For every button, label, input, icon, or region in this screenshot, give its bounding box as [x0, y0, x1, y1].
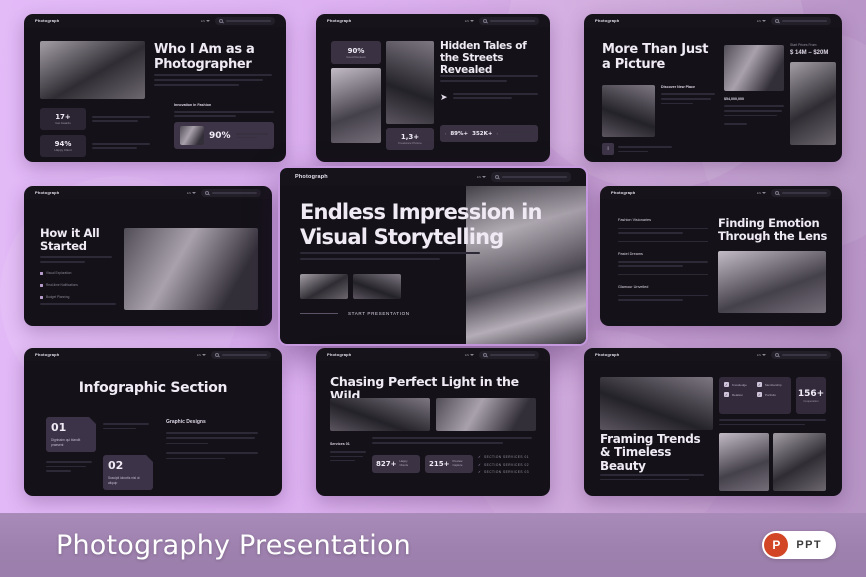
- list-item: Visual Exploration: [40, 271, 116, 277]
- next-arrow-icon[interactable]: ›: [496, 131, 497, 136]
- cooperation-counter: 156+ Cooperation: [796, 377, 826, 414]
- send-row: ➤: [440, 93, 538, 102]
- checkbox-grid: ✓Knowledge ✓Membership ✓Relation ✓Portfo…: [724, 382, 786, 397]
- slide-finding-emotion[interactable]: Photograph EN Fashion Visionaries Pastel…: [600, 186, 842, 326]
- slide-paragraph: [372, 437, 532, 444]
- language-selector[interactable]: EN: [465, 19, 474, 23]
- navbar-right: EN: [757, 351, 831, 359]
- search-placeholder: [782, 354, 827, 356]
- send-icon: ➤: [440, 93, 448, 102]
- bullet-icon: [40, 284, 43, 287]
- search-placeholder: [782, 20, 827, 22]
- checkbox-panel: ✓Knowledge ✓Membership ✓Relation ✓Portfo…: [719, 377, 791, 414]
- slide-hidden-tales[interactable]: Photograph EN 90% Good Reviews 1,3+ Free…: [316, 14, 550, 162]
- portrait-photo: [40, 41, 145, 99]
- badge-label: Good Reviews: [346, 55, 366, 59]
- slide-navbar: Photograph EN: [24, 186, 272, 199]
- language-selector[interactable]: EN: [757, 353, 766, 357]
- chevron-down-icon: [762, 20, 766, 22]
- dancer-photo: [331, 68, 381, 143]
- column-title: Discover New Place: [661, 85, 715, 89]
- slide-body: 90% Good Reviews 1,3+ Freelance Picture …: [316, 27, 550, 162]
- model-photo-1: [719, 433, 769, 491]
- stat-label: Happy Client: [54, 148, 71, 152]
- freelance-figure: 1,3+ Freelance Picture: [386, 128, 434, 150]
- bullet-icon: [40, 272, 43, 275]
- card-number: 01: [51, 421, 91, 434]
- sections-list: Fashion Visionaries Pastel Dreams Glamou…: [618, 217, 708, 317]
- slide-how-it-all-started[interactable]: Photograph EN How it All Started Visual …: [24, 186, 272, 326]
- stats-list: 17+ Get Awards 94% Happy Client: [40, 108, 150, 162]
- card-note: [103, 423, 149, 429]
- model-photo-2: [773, 433, 826, 491]
- search-placeholder: [490, 20, 535, 22]
- chevron-down-icon: [202, 354, 206, 356]
- checklist-item: ✓SECTION SERVICES 02: [478, 463, 538, 467]
- chevron-down-icon: [470, 20, 474, 22]
- slide-body: Chasing Perfect Light in the Wild Servic…: [316, 361, 550, 496]
- counter-value: 156+: [798, 389, 824, 399]
- checkbox-item[interactable]: ✓Membership: [757, 382, 786, 387]
- slide-title: Infographic Section: [24, 381, 282, 397]
- search-placeholder: [226, 20, 271, 22]
- brand-label: Photograph: [327, 352, 351, 357]
- slide-body: ✓Knowledge ✓Membership ✓Relation ✓Portfo…: [584, 361, 842, 496]
- bar-stat-2: 352K+: [472, 131, 492, 137]
- language-selector[interactable]: EN: [197, 353, 206, 357]
- card-body: 02 Suscipit lobortis nisl ut aliquip: [103, 455, 153, 490]
- house-photo: [724, 45, 784, 91]
- card-label: Dignissim qui blandit praesent: [51, 438, 91, 448]
- check-icon: ✓: [478, 455, 481, 459]
- language-selector[interactable]: EN: [465, 353, 474, 357]
- services-block: Services 01: [330, 441, 366, 461]
- slide-paragraph: [300, 252, 480, 260]
- checkbox-item[interactable]: ✓Knowledge: [724, 382, 753, 387]
- slide-body: Endless Impression in Visual Storytellin…: [280, 186, 586, 344]
- bar-note: [502, 131, 533, 136]
- promo-thumb: [180, 126, 204, 145]
- slide-navbar: Photograph EN: [600, 186, 842, 199]
- slide-title: How it All Started: [40, 227, 115, 253]
- caption-row: i: [602, 143, 672, 155]
- language-label: EN: [757, 191, 761, 195]
- slide-navbar: Photograph EN: [24, 348, 282, 361]
- language-label: EN: [757, 353, 761, 357]
- checklist-label: SECTION SERVICES 01: [484, 455, 529, 459]
- figure-label: Freelance Picture: [398, 141, 422, 145]
- search-icon: [775, 353, 779, 357]
- search-placeholder: [490, 354, 535, 356]
- slide-footnote: [40, 303, 116, 305]
- night-street-photo: [790, 62, 836, 145]
- checklist-label: SECTION SERVICES 02: [484, 463, 529, 467]
- brand-label: Photograph: [35, 352, 59, 357]
- slide-subtitle: [600, 474, 704, 480]
- slide-navbar: Photograph EN: [584, 348, 842, 361]
- boat-photo: [436, 398, 536, 431]
- info-card-02: 02 Suscipit lobortis nisl ut aliquip: [103, 455, 153, 490]
- reviews-badge: 90% Good Reviews: [331, 41, 381, 64]
- navbar-right: EN: [757, 189, 831, 197]
- stat-row: 17+ Get Awards: [40, 108, 150, 130]
- price-text: [724, 105, 784, 116]
- start-price-value: $ 14M – $20M: [790, 50, 836, 56]
- search-icon: [483, 353, 487, 357]
- card-label: Suscipit lobortis nisl ut aliquip: [108, 476, 148, 486]
- check-icon: ✓: [478, 470, 481, 474]
- checklist-label: SECTION SERVICES 03: [484, 470, 529, 474]
- search-placeholder: [212, 192, 257, 194]
- section-text: [174, 111, 274, 117]
- navbar-right: EN: [477, 172, 571, 182]
- silhouettes-photo: [386, 41, 434, 124]
- graphic-designs-block: Graphic Designs: [166, 419, 258, 459]
- brand-label: Photograph: [35, 18, 59, 23]
- promo-note: [236, 133, 268, 138]
- slide-title: Who I Am as a Photographer: [154, 43, 274, 72]
- slide-who-i-am[interactable]: Photograph EN Who I Am as a Photographer…: [24, 14, 286, 162]
- seaside-photo: [718, 251, 826, 313]
- brand-label: Photograph: [35, 190, 59, 195]
- checklist-item: ✓SECTION SERVICES 03: [478, 470, 538, 474]
- poster-canvas: Photograph EN Who I Am as a Photographer…: [0, 0, 866, 577]
- stat-note: [92, 116, 150, 122]
- search-icon: [483, 19, 487, 23]
- street-photo: [602, 85, 655, 137]
- slide-body: How it All Started Visual Exploration Re…: [24, 199, 272, 326]
- search-placeholder: [502, 176, 567, 178]
- stat-value: 215+: [429, 460, 449, 468]
- checkbox-icon: ✓: [757, 382, 762, 387]
- language-label: EN: [187, 191, 191, 195]
- badge-value: 90%: [348, 47, 365, 55]
- list-item-label: Real-time Notifications: [46, 283, 78, 289]
- price-value: $54,000,000: [724, 97, 784, 101]
- stat-card: 94% Happy Client: [40, 135, 86, 157]
- list-item: Budget Planning: [40, 295, 116, 301]
- search-input[interactable]: [479, 351, 539, 359]
- bullet-icon: [40, 296, 43, 299]
- slide-paragraph: [440, 75, 538, 82]
- checkbox-icon: ✓: [724, 392, 729, 397]
- search-icon: [219, 19, 223, 23]
- ppt-label: PPT: [796, 539, 822, 551]
- stairs-photo: [330, 398, 430, 431]
- read-more-link[interactable]: [724, 123, 784, 125]
- navbar-right: EN: [201, 17, 275, 25]
- slide-navbar: Photograph EN: [316, 14, 550, 27]
- bar-stat-1: 89%+: [450, 131, 468, 137]
- checkbox-item[interactable]: ✓Relation: [724, 392, 753, 397]
- search-icon: [215, 353, 219, 357]
- search-icon: [775, 19, 779, 23]
- ppt-badge: P PPT: [762, 531, 836, 559]
- block-title: Graphic Designs: [166, 419, 258, 425]
- start-presentation-label: START PRESENTATION: [348, 311, 410, 316]
- services-checklist: ✓SECTION SERVICES 01 ✓SECTION SERVICES 0…: [478, 455, 538, 478]
- prev-arrow-icon[interactable]: ‹: [445, 131, 446, 136]
- language-selector[interactable]: EN: [477, 175, 486, 179]
- language-label: EN: [465, 19, 469, 23]
- navbar-right: EN: [187, 189, 261, 197]
- footer-bar: Photography Presentation P PPT: [0, 513, 866, 577]
- chevron-down-icon: [482, 176, 486, 178]
- studio-photo: [600, 377, 713, 430]
- send-text: [453, 93, 538, 102]
- slide-body: Infographic Section 01 Dignissim qui bla…: [24, 361, 282, 496]
- thumbnail-photo[interactable]: [353, 274, 401, 299]
- stat-row: 94% Happy Client: [40, 135, 150, 157]
- block-text-1: [166, 432, 258, 444]
- search-icon: [775, 191, 779, 195]
- counter-label: Cooperation: [803, 399, 818, 403]
- thumbnail-strip: [300, 274, 401, 299]
- slide-more-than-just-a-picture[interactable]: Photograph EN More Than Just a Picture D…: [584, 14, 842, 162]
- stat-note: [92, 143, 150, 149]
- list-item-label: Visual Exploration: [46, 271, 71, 277]
- start-presentation-button[interactable]: START PRESENTATION: [300, 311, 410, 316]
- stat-label: Get Awards: [55, 121, 70, 125]
- info-card-01: 01 Dignissim qui blandit praesent: [46, 417, 96, 452]
- search-input[interactable]: [201, 189, 261, 197]
- section-title: Innovation in Fashion: [174, 103, 274, 107]
- slide-body: Who I Am as a Photographer 17+ Get Award…: [24, 27, 286, 162]
- start-price-label: Start Prices From:: [790, 43, 836, 47]
- start-price-column: Start Prices From: $ 14M – $20M: [790, 43, 836, 145]
- services-label: Services 01: [330, 441, 366, 447]
- checkbox-label: Knowledge: [732, 383, 747, 387]
- checklist-item: ✓SECTION SERVICES 01: [478, 455, 538, 459]
- card-number: 02: [108, 459, 148, 472]
- stat-value: 827+: [376, 460, 396, 468]
- block-text-2: [166, 452, 258, 459]
- chevron-down-icon: [206, 20, 210, 22]
- slide-title: Finding Emotion Through the Lens: [718, 217, 833, 243]
- crosswalk-photo: [124, 228, 258, 310]
- navbar-right: EN: [465, 17, 539, 25]
- slide-framing-trends[interactable]: Photograph EN ✓Knowledge ✓Membership ✓Re…: [584, 348, 842, 496]
- checkbox-label: Portfolio: [765, 393, 776, 397]
- checkbox-label: Membership: [765, 383, 782, 387]
- info-icon: i: [602, 143, 614, 155]
- stat-card: 827+ Happy Clients: [372, 455, 420, 473]
- slide-paragraph: [40, 256, 112, 263]
- search-input[interactable]: [211, 351, 271, 359]
- stats-bar: ‹ 89%+ 352K+ ›: [440, 125, 538, 142]
- column-text: [661, 93, 715, 104]
- checkbox-icon: ✓: [757, 392, 762, 397]
- slide-navbar: Photograph EN: [584, 14, 842, 27]
- search-input[interactable]: [215, 17, 275, 25]
- section-block: Pastel Dreams: [618, 251, 708, 276]
- section-heading: Glamour Unveiled: [618, 284, 708, 291]
- language-selector[interactable]: EN: [757, 191, 766, 195]
- stat-label: Happy Clients: [399, 460, 416, 467]
- feature-list: Visual Exploration Real-time Notificatio…: [40, 271, 116, 306]
- slide-paragraph: [154, 74, 272, 86]
- slide-infographic-section[interactable]: Photograph EN Infographic Section 01 Dig…: [24, 348, 282, 496]
- slide-body: More Than Just a Picture Discover New Pl…: [584, 27, 842, 162]
- language-selector[interactable]: EN: [201, 19, 210, 23]
- chevron-down-icon: [192, 192, 196, 194]
- thumbnail-photo[interactable]: [300, 274, 348, 299]
- slide-chasing-perfect-light[interactable]: Photograph EN Chasing Perfect Light in t…: [316, 348, 550, 496]
- stat-label: Preview Capture: [452, 460, 469, 467]
- slide-title: Framing Trends & Timeless Beauty: [600, 433, 704, 473]
- figure-value: 1,3+: [401, 133, 419, 141]
- slide-text: [719, 419, 826, 425]
- section-heading: Pastel Dreams: [618, 251, 708, 258]
- search-input[interactable]: [771, 17, 831, 25]
- slide-endless-impression[interactable]: Photograph EN Endless Impression in Visu…: [278, 166, 588, 346]
- search-input[interactable]: [771, 189, 831, 197]
- search-placeholder: [782, 192, 827, 194]
- stat-value: 17+: [55, 113, 71, 121]
- brand-label: Photograph: [295, 174, 328, 180]
- page-title: Photography Presentation: [56, 530, 411, 561]
- check-icon: ✓: [478, 463, 481, 467]
- powerpoint-icon: P: [764, 533, 788, 557]
- chevron-down-icon: [762, 354, 766, 356]
- brand-label: Photograph: [595, 352, 619, 357]
- stat-value: 94%: [55, 140, 72, 148]
- stats-row: 827+ Happy Clients 215+ Preview Capture: [372, 455, 473, 473]
- slide-body: Fashion Visionaries Pastel Dreams Glamou…: [600, 199, 842, 326]
- checkbox-item[interactable]: ✓Portfolio: [757, 392, 786, 397]
- language-label: EN: [477, 175, 481, 179]
- caption-text: [618, 146, 672, 153]
- search-input[interactable]: [771, 351, 831, 359]
- brand-label: Photograph: [327, 18, 351, 23]
- checkbox-icon: ✓: [724, 382, 729, 387]
- slide-title: More Than Just a Picture: [602, 43, 720, 72]
- navbar-right: EN: [465, 351, 539, 359]
- section-block: Fashion Visionaries: [618, 217, 708, 242]
- language-label: EN: [757, 19, 761, 23]
- language-selector[interactable]: EN: [757, 19, 766, 23]
- search-input[interactable]: [491, 172, 571, 182]
- search-placeholder: [222, 354, 267, 356]
- language-selector[interactable]: EN: [187, 191, 196, 195]
- navbar-right: EN: [197, 351, 271, 359]
- search-input[interactable]: [479, 17, 539, 25]
- language-label: EN: [197, 353, 201, 357]
- slide-navbar: Photograph EN: [280, 168, 586, 186]
- slide-navbar: Photograph EN: [316, 348, 550, 361]
- navbar-right: EN: [757, 17, 831, 25]
- slide-navbar: Photograph EN: [24, 14, 286, 27]
- promo-value: 90%: [209, 131, 231, 141]
- search-icon: [205, 191, 209, 195]
- list-item-label: Budget Planning: [46, 295, 69, 301]
- price-column: $54,000,000: [724, 45, 784, 125]
- photo-row: [330, 398, 536, 431]
- checkbox-label: Relation: [732, 393, 743, 397]
- brand-label: Photograph: [595, 18, 619, 23]
- language-label: EN: [201, 19, 205, 23]
- card-body: 01 Dignissim qui blandit praesent: [46, 417, 96, 452]
- discover-column: Discover New Place: [661, 85, 715, 104]
- promo-card: 90%: [174, 122, 274, 149]
- reviews-badge-wrap: 90% Good Reviews: [331, 41, 381, 64]
- language-label: EN: [465, 353, 469, 357]
- slide-title: Hidden Tales of the Streets Revealed: [440, 41, 540, 76]
- chevron-down-icon: [762, 192, 766, 194]
- stat-card: 215+ Preview Capture: [425, 455, 473, 473]
- slide-title: Endless Impression in Visual Storytellin…: [300, 200, 560, 250]
- chevron-down-icon: [470, 354, 474, 356]
- stat-card: 17+ Get Awards: [40, 108, 86, 130]
- divider-line: [300, 313, 338, 314]
- card-note: [46, 461, 92, 472]
- section-block: Glamour Unveiled: [618, 284, 708, 308]
- list-item: Real-time Notifications: [40, 283, 116, 289]
- innovation-section: Innovation in Fashion 90%: [174, 103, 274, 149]
- search-icon: [495, 175, 499, 179]
- brand-label: Photograph: [611, 190, 635, 195]
- section-heading: Fashion Visionaries: [618, 217, 708, 224]
